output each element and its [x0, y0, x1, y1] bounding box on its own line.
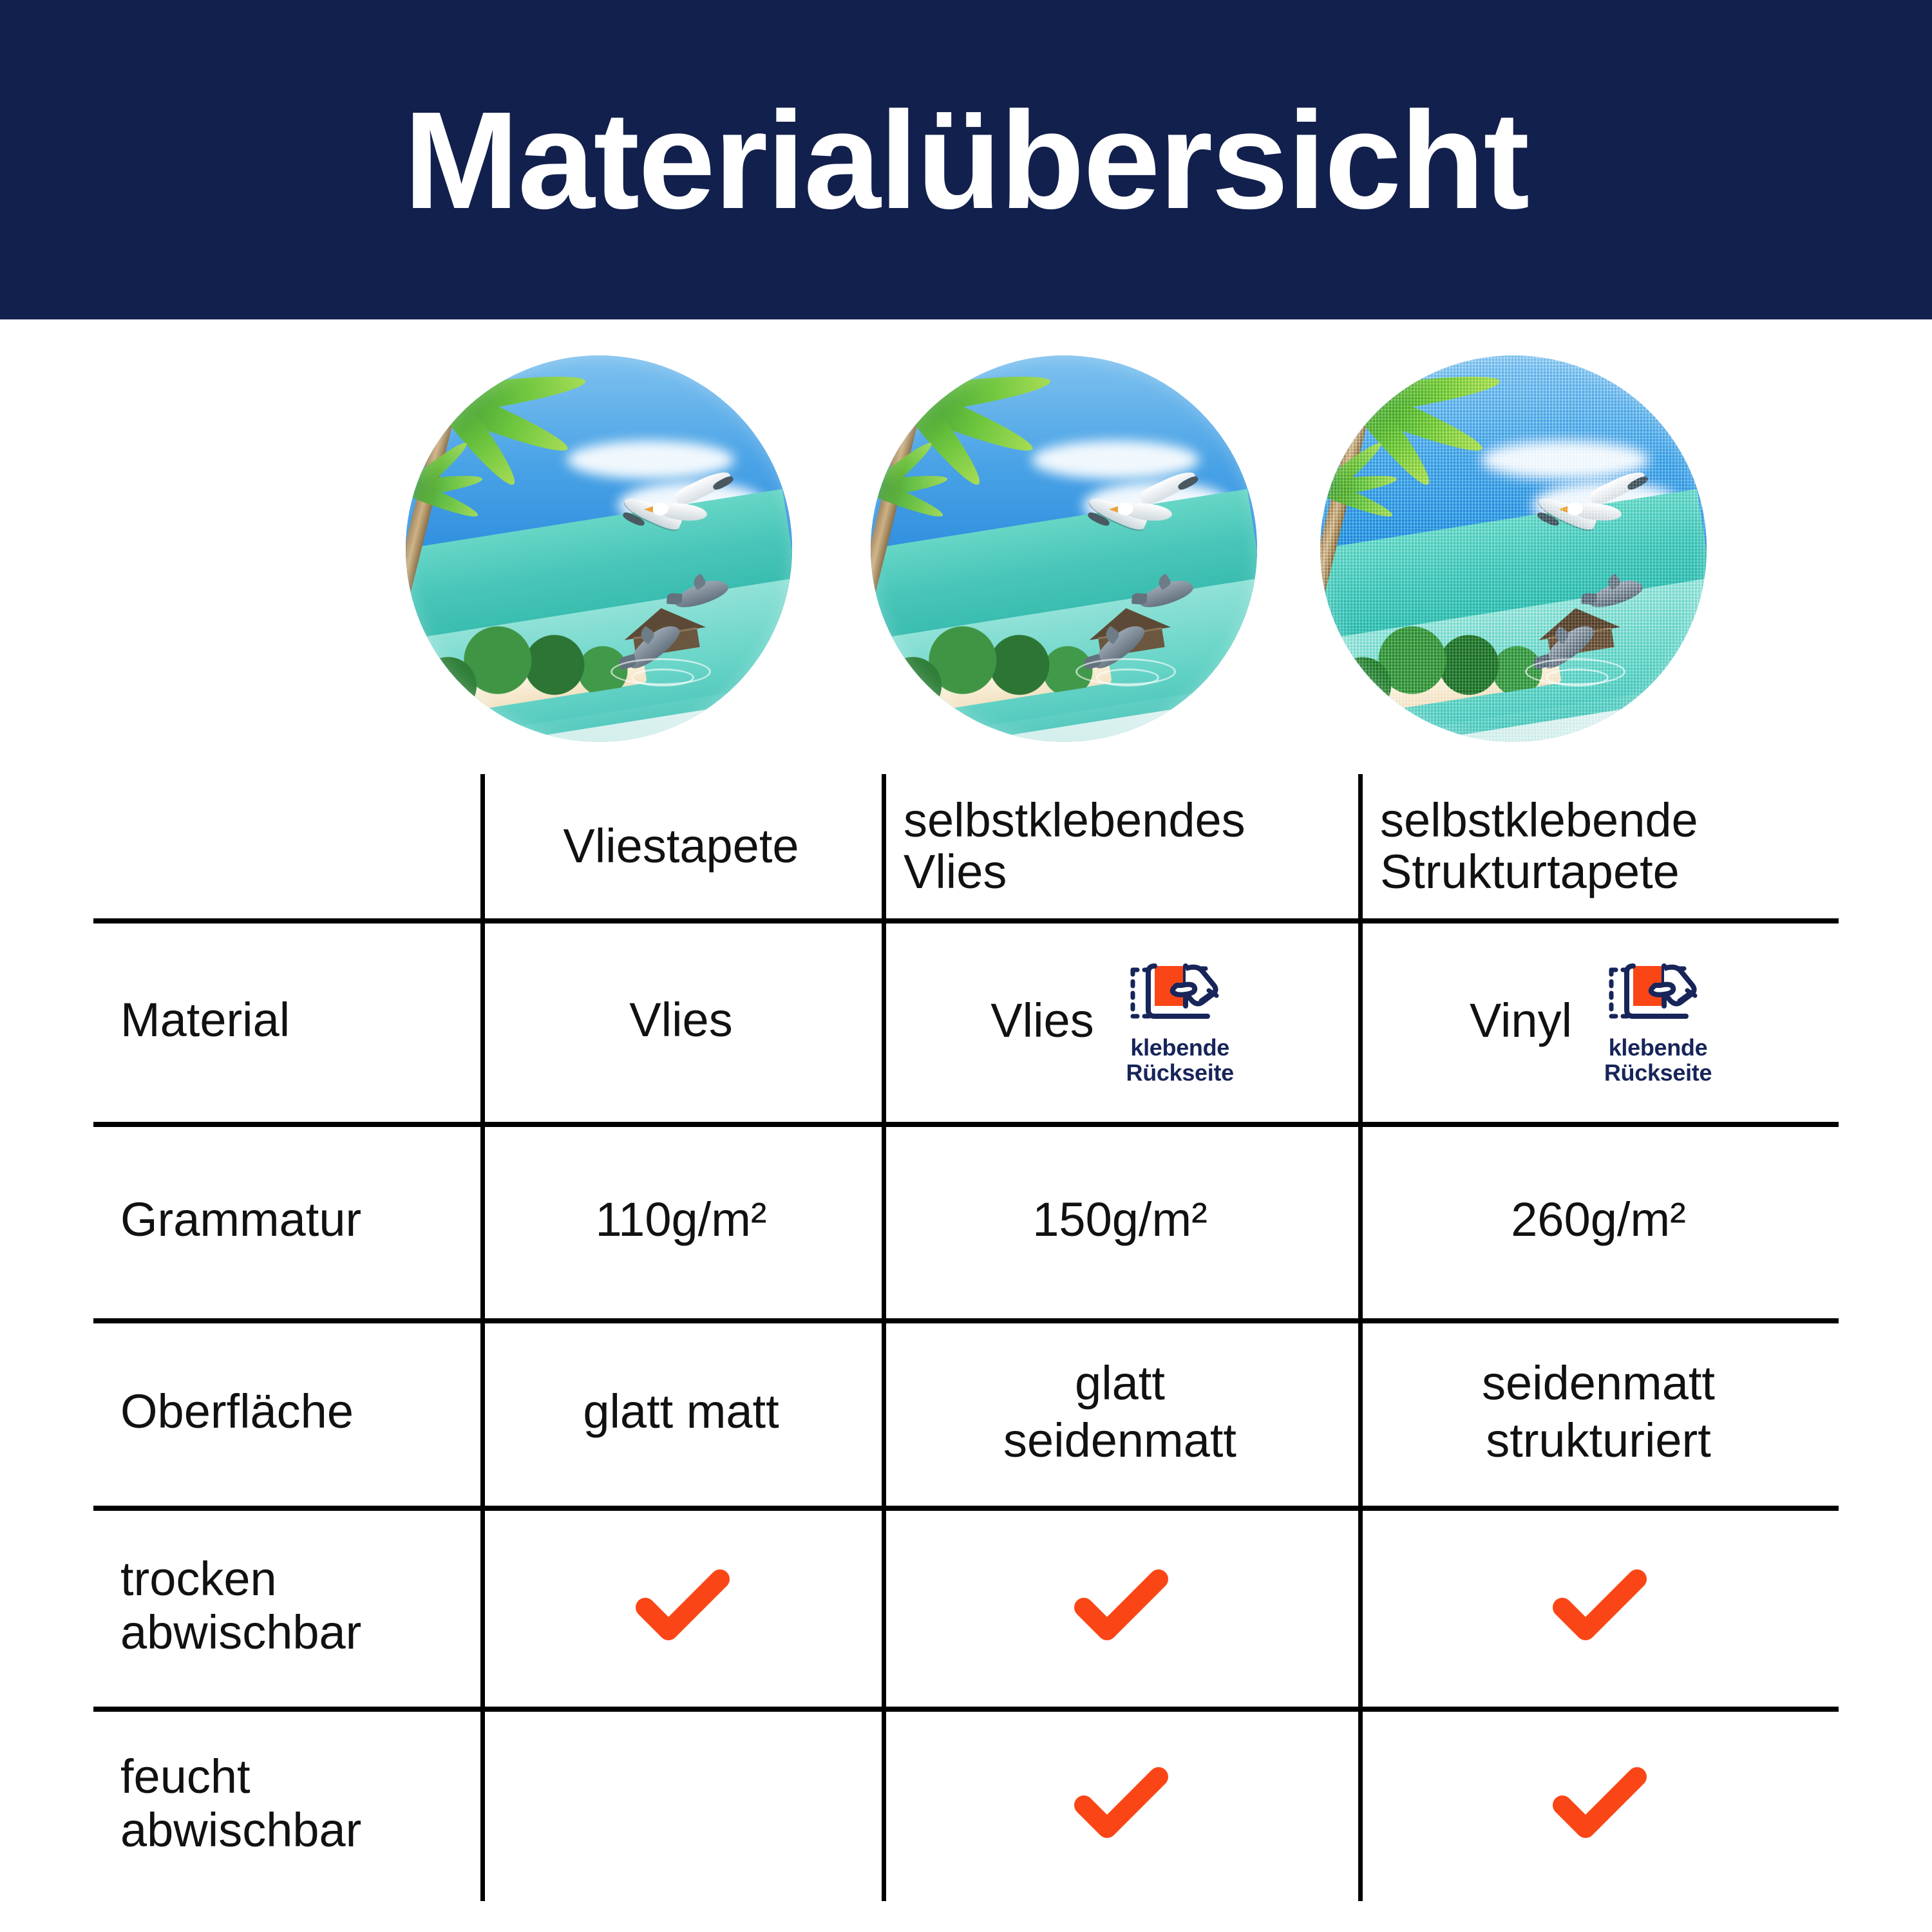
badge-label-line2: Rückseite: [1604, 1059, 1712, 1086]
cell-grammatur-selbstklebendes-vlies: 150g/m²: [882, 1122, 1358, 1318]
cell-oberflaeche-selbstklebende-strukturtapete: seidenmattstrukturiert: [1358, 1318, 1839, 1506]
peel-adhesive-back-icon: [1597, 954, 1719, 1032]
badge-label-line2: Rückseite: [1126, 1059, 1234, 1086]
material-comparison-table: Vliestapete selbstklebendes Vlies selbst…: [93, 774, 1839, 1901]
table-header-selbstklebende-strukturtapete: selbstklebende Strukturtapete: [1358, 774, 1839, 918]
cell-material-selbstklebendes-vlies: Vlies: [882, 918, 1358, 1122]
column-header-label: Vliestapete: [563, 820, 799, 872]
thumbnail-cell-vliestapete: [406, 355, 792, 742]
cell-feucht-selbstklebendes-vlies: [882, 1707, 1358, 1901]
table-header-selbstklebendes-vlies: selbstklebendes Vlies: [882, 774, 1358, 918]
adhesive-back-badge: klebende Rückseite: [1111, 954, 1249, 1086]
cell-feucht-selbstklebende-strukturtapete: [1358, 1707, 1839, 1901]
row-label-text: Grammatur: [120, 1193, 361, 1247]
badge-label-line1: klebende: [1130, 1034, 1229, 1061]
seagull-icon: [1533, 475, 1649, 553]
cell-material-vliestapete: Vlies: [480, 918, 882, 1122]
cell-feucht-vliestapete: [480, 1707, 882, 1901]
cell-value: glattseidenmatt: [1003, 1355, 1236, 1470]
check-icon: [1547, 1567, 1650, 1645]
cell-value: Vinyl: [1470, 993, 1572, 1048]
cell-value: 260g/m²: [1511, 1191, 1685, 1249]
column-header-label: selbstklebende Strukturtapete: [1380, 795, 1839, 898]
row-label-text: Material: [120, 994, 290, 1047]
page-header-band: Materialübersicht: [0, 0, 1932, 319]
check-icon: [630, 1567, 733, 1645]
column-header-label: selbstklebendes Vlies: [904, 795, 1358, 898]
material-overview-page: Materialübersicht: [0, 0, 1932, 1932]
badge-label-line1: klebende: [1609, 1034, 1708, 1061]
water-splash: [1546, 668, 1609, 687]
row-label-trocken-abwischbar: trockenabwischbar: [93, 1506, 480, 1707]
cell-value: Vlies: [990, 993, 1094, 1048]
cell-trocken-vliestapete: [480, 1506, 882, 1707]
product-thumbnail-circle-3: [1320, 355, 1707, 742]
cell-value: 150g/m²: [1032, 1191, 1207, 1249]
cell-trocken-selbstklebende-strukturtapete: [1358, 1506, 1839, 1707]
cell-empty: [480, 1707, 882, 1901]
thumbnail-cell-selbstklebendes-vlies: [871, 355, 1257, 742]
seagull-icon: [1083, 475, 1199, 553]
row-label-oberflaeche: Oberfläche: [93, 1318, 480, 1506]
product-thumbnail-circle-1: [406, 355, 792, 742]
table-header-vliestapete: Vliestapete: [480, 774, 882, 918]
adhesive-back-badge: klebende Rückseite: [1589, 954, 1727, 1086]
page-title: Materialübersicht: [404, 91, 1528, 229]
row-label-text: trockenabwischbar: [120, 1553, 361, 1660]
check-icon: [1547, 1765, 1650, 1842]
palm-tree-small-icon: [871, 465, 948, 562]
row-label-text: Oberfläche: [120, 1385, 354, 1439]
seagull-icon: [618, 475, 734, 553]
cell-value: Vlies: [629, 992, 732, 1049]
palm-tree-small-icon: [1320, 465, 1397, 562]
cell-trocken-selbstklebendes-vlies: [882, 1506, 1358, 1707]
product-thumbnail-circle-2: [871, 355, 1257, 742]
check-icon: [1068, 1567, 1171, 1645]
cell-grammatur-selbstklebende-strukturtapete: 260g/m²: [1358, 1122, 1839, 1318]
cell-value: seidenmattstrukturiert: [1482, 1355, 1715, 1470]
product-thumbnails-row: [93, 355, 1839, 742]
water-splash: [1096, 668, 1159, 687]
badge-label: klebende Rückseite: [1604, 1036, 1712, 1086]
cell-grammatur-vliestapete: 110g/m²: [480, 1122, 882, 1318]
water-splash: [631, 668, 694, 687]
cell-value: glatt matt: [583, 1383, 779, 1441]
cell-value: 110g/m²: [596, 1191, 767, 1249]
row-label-grammatur: Grammatur: [93, 1122, 480, 1318]
row-label-text: feuchtabwischbar: [120, 1750, 361, 1857]
palm-tree-small-icon: [406, 465, 483, 562]
row-label-material: Material: [93, 918, 480, 1122]
cell-material-selbstklebende-strukturtapete: Vinyl: [1358, 918, 1839, 1122]
badge-label: klebende Rückseite: [1126, 1036, 1234, 1086]
thumbnail-cell-selbstklebende-strukturtapete: [1320, 355, 1707, 742]
row-label-feucht-abwischbar: feuchtabwischbar: [93, 1707, 480, 1901]
cell-oberflaeche-selbstklebendes-vlies: glattseidenmatt: [882, 1318, 1358, 1506]
peel-adhesive-back-icon: [1119, 954, 1241, 1032]
cell-oberflaeche-vliestapete: glatt matt: [480, 1318, 882, 1506]
check-icon: [1068, 1765, 1171, 1842]
